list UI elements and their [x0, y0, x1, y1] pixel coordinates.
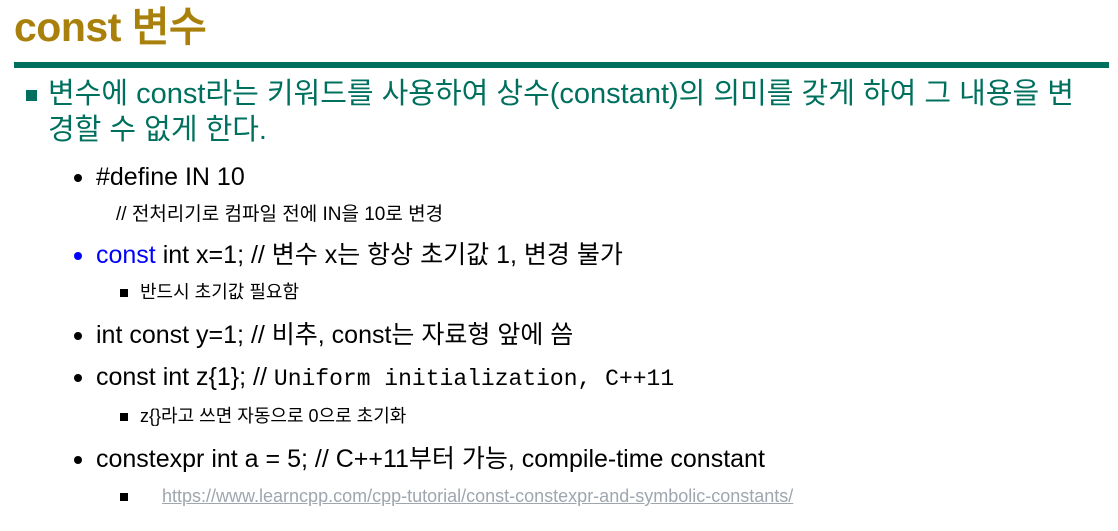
note-brace-zero-init: z{}라고 쓰면 자동으로 0으로 초기화	[106, 402, 1118, 430]
round-bullet-icon	[74, 374, 82, 382]
define-comment-text: // 전처리기로 컴파일 전에 IN을 10로 변경	[116, 204, 443, 225]
small-square-bullet-icon	[120, 289, 128, 297]
round-bullet-icon	[74, 174, 82, 182]
reference-link-row[interactable]: https://www.learncpp.com/cpp-tutorial/co…	[106, 482, 1118, 510]
bullet-level1-overview: 변수에 const라는 키워드를 사용하여 상수(constant)의 의미를 …	[12, 76, 1100, 148]
small-square-bullet-icon	[120, 493, 128, 501]
bullet-int-const-y-text: int const y=1; // 비추, const는 자료형 앞에 씀	[96, 321, 573, 349]
bullet-define-text: #define IN 10	[96, 163, 245, 191]
slide-body: 변수에 const라는 키워드를 사용하여 상수(constant)의 의미를 …	[0, 76, 1118, 510]
page-title: const 변수	[14, 2, 1104, 52]
title-divider	[14, 62, 1109, 68]
note-initializer-required: 반드시 초기값 필요함	[106, 278, 1118, 306]
reference-url-link[interactable]: https://www.learncpp.com/cpp-tutorial/co…	[162, 486, 793, 506]
round-bullet-icon	[74, 252, 82, 260]
note-brace-zero-init-text: z{}라고 쓰면 자동으로 0으로 초기화	[140, 406, 406, 426]
bullet-const-int-z: const int z{1}; // Uniform initializatio…	[60, 358, 1118, 398]
square-bullet-icon	[26, 90, 37, 101]
bullet-define: #define IN 10	[60, 158, 1118, 196]
title-area: const 변수	[14, 2, 1104, 58]
bullet-const-int-z-mono: Uniform initialization, C++11	[274, 366, 674, 392]
define-comment-line: // 전처리기로 컴파일 전에 IN을 10로 변경	[116, 200, 1118, 230]
bullet-constexpr-text: constexpr int a = 5; // C++11부터 가능, comp…	[96, 445, 765, 473]
bullet-const-int-x: const int x=1; // 변수 x는 항상 초기값 1, 변경 불가	[60, 236, 1118, 274]
bullet-level1-text: 변수에 const라는 키워드를 사용하여 상수(constant)의 의미를 …	[48, 78, 1074, 146]
const-keyword: const	[96, 241, 156, 269]
small-square-bullet-icon	[120, 413, 128, 421]
bullet-const-int-z-prefix: const int z{1}; //	[96, 363, 274, 391]
bullet-const-int-x-text: int x=1; // 변수 x는 항상 초기값 1, 변경 불가	[156, 241, 623, 269]
round-bullet-icon	[74, 332, 82, 340]
slide: const 변수 변수에 const라는 키워드를 사용하여 상수(consta…	[0, 0, 1118, 531]
note-initializer-required-text: 반드시 초기값 필요함	[140, 282, 299, 302]
bullet-int-const-y: int const y=1; // 비추, const는 자료형 앞에 씀	[60, 316, 1118, 354]
bullet-constexpr: constexpr int a = 5; // C++11부터 가능, comp…	[60, 440, 1118, 478]
round-bullet-icon	[74, 456, 82, 464]
